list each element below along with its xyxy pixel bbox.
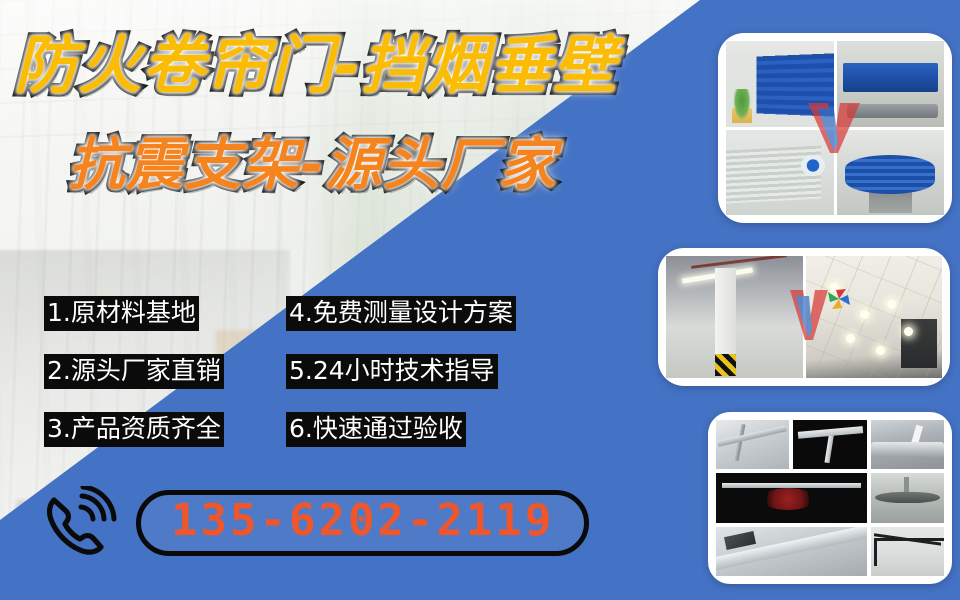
- headline-block: 防火卷帘门-挡烟垂壁 抗震支架-源头厂家: [0, 34, 700, 194]
- phone-call-icon: [40, 486, 118, 560]
- ceiling-downlight: [860, 310, 869, 319]
- parking-garage-interior-photo: [666, 256, 803, 378]
- large-ceiling-fan-photo: [871, 473, 944, 522]
- advertisement-banner: STILL 防火卷帘门-挡烟垂壁 抗震支架-源头厂家 1.原材料基地 4.免费测…: [0, 0, 960, 600]
- garage-ceiling-lamp: [682, 268, 753, 284]
- feature-item: 1.原材料基地: [44, 296, 199, 331]
- contact-row: 135-6202-2119: [40, 486, 589, 560]
- ceiling-downlight: [904, 327, 913, 336]
- duct-support-photo: [716, 527, 867, 576]
- headline-primary: 防火卷帘门-挡烟垂壁: [0, 34, 700, 97]
- ceiling-downlight: [846, 334, 855, 343]
- silver-rolling-shutter-photo: [726, 130, 834, 216]
- headline-secondary: 抗震支架-源头厂家: [0, 137, 700, 194]
- phone-number: 135-6202-2119: [171, 498, 554, 544]
- pipe-hanger-bracket-photo: [716, 420, 789, 469]
- duct-clamp-bracket-photo: [871, 420, 944, 469]
- garage-pipe: [691, 256, 786, 268]
- seismic-bracket-collage: [708, 412, 952, 584]
- colorful-pinwheel-icon: [826, 288, 852, 310]
- steel-frame-interior-photo: [871, 527, 944, 576]
- installation-site-collage: [658, 248, 950, 386]
- ceiling-downlight: [876, 346, 885, 355]
- feature-item: 5.24小时技术指导: [286, 354, 498, 389]
- rollforming-machine-photo: [837, 41, 945, 127]
- feature-list: 1.原材料基地 4.免费测量设计方案 2.源头厂家直销 5.24小时技术指导 3…: [44, 296, 564, 470]
- ceiling-brace-detail-photo: [793, 420, 866, 469]
- feature-item: 3.产品资质齐全: [44, 412, 224, 447]
- feature-item: 2.源头厂家直销: [44, 354, 224, 389]
- ceiling-lighting-interior-photo: [806, 256, 943, 378]
- feature-item: 4.免费测量设计方案: [286, 296, 516, 331]
- blue-fire-shutter-door-photo: [726, 41, 834, 127]
- lateral-brace-assembly-photo: [716, 473, 867, 522]
- feature-item: 6.快速通过验收: [286, 412, 466, 447]
- blue-steel-coil-photo: [837, 130, 945, 216]
- ceiling-downlight: [887, 300, 896, 309]
- phone-number-pill[interactable]: 135-6202-2119: [136, 490, 589, 556]
- fire-shutter-door-collage: [718, 33, 952, 223]
